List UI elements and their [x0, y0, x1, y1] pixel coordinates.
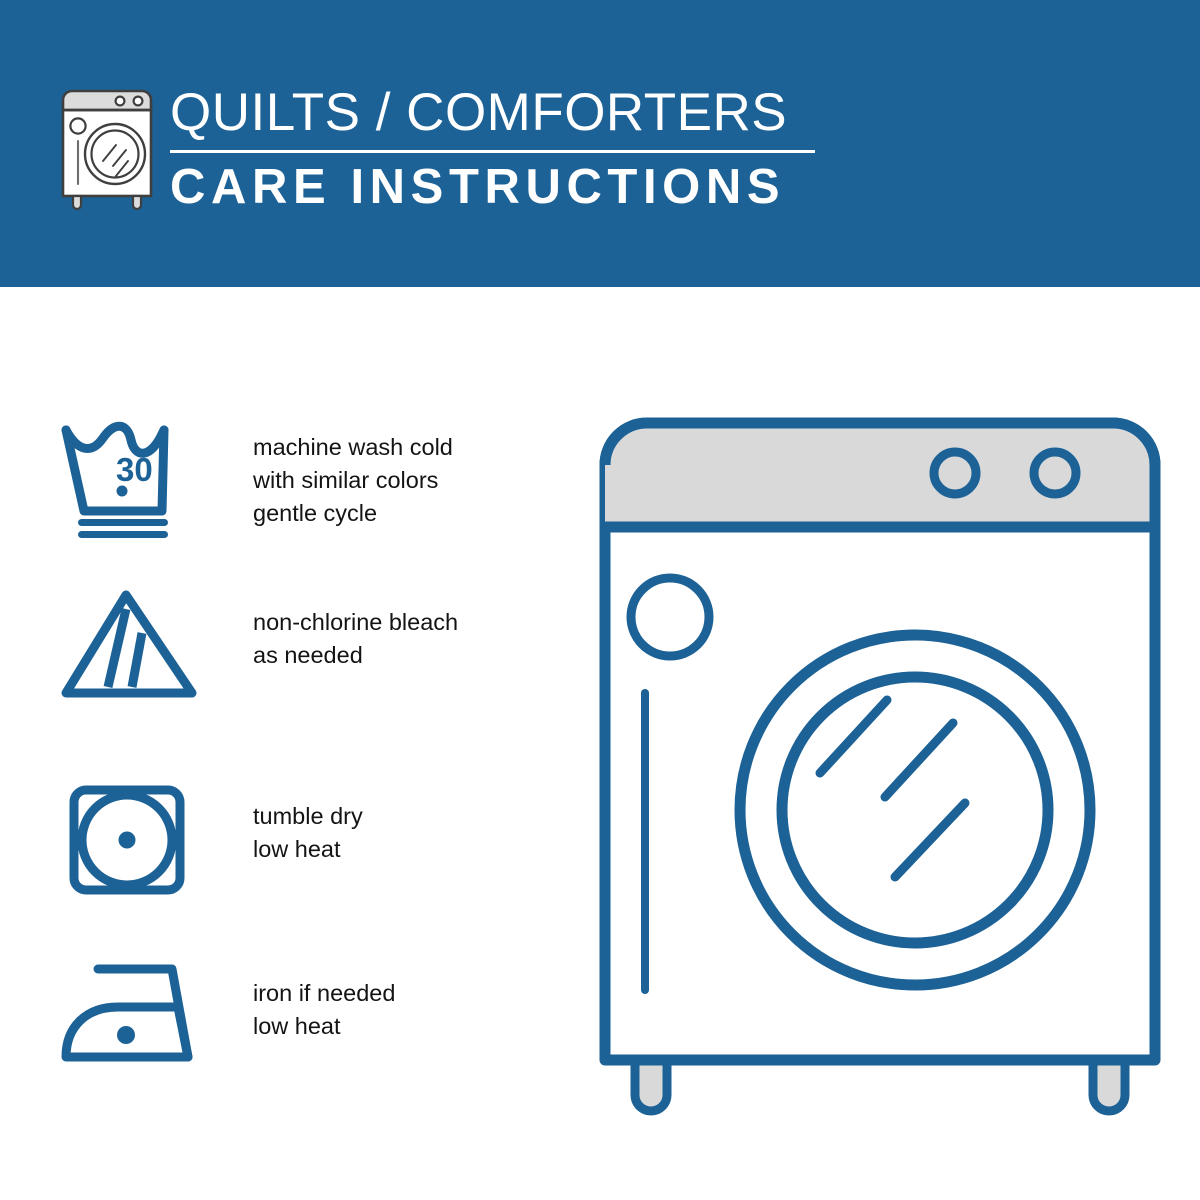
machine-door-inner-ring — [782, 677, 1048, 943]
machine-dial — [631, 578, 709, 656]
machine-knob — [934, 452, 976, 494]
non-chlorine-bleach-triangle-icon — [60, 587, 200, 707]
washing-machine-illustration — [595, 405, 1165, 1125]
care-instructions-page: QUILTS / COMFORTERS CARE INSTRUCTIONS 30 — [0, 0, 1200, 1200]
care-item-label: machine wash cold with similar colors ge… — [253, 431, 453, 530]
header-band: QUILTS / COMFORTERS CARE INSTRUCTIONS — [0, 0, 1200, 287]
care-item-label: non-chlorine bleach as needed — [253, 606, 458, 672]
washing-machine-icon — [54, 84, 162, 212]
iron-low-heat-icon — [60, 957, 200, 1077]
page-title: QUILTS / COMFORTERS — [170, 84, 830, 142]
care-item-label: tumble dry low heat — [253, 800, 363, 866]
title-divider — [170, 150, 815, 153]
care-item-label: iron if needed low heat — [253, 977, 395, 1043]
care-instruction-list: 30 machine wash cold with similar colors… — [0, 287, 560, 1200]
wash-temperature-value: 30 — [116, 451, 153, 488]
machine-knob — [1034, 452, 1076, 494]
header-title-group: QUILTS / COMFORTERS CARE INSTRUCTIONS — [170, 84, 830, 214]
machine-wash-30-gentle-icon: 30 — [60, 419, 200, 539]
page-subtitle: CARE INSTRUCTIONS — [170, 160, 830, 214]
tumble-dry-low-heat-icon — [60, 782, 200, 902]
